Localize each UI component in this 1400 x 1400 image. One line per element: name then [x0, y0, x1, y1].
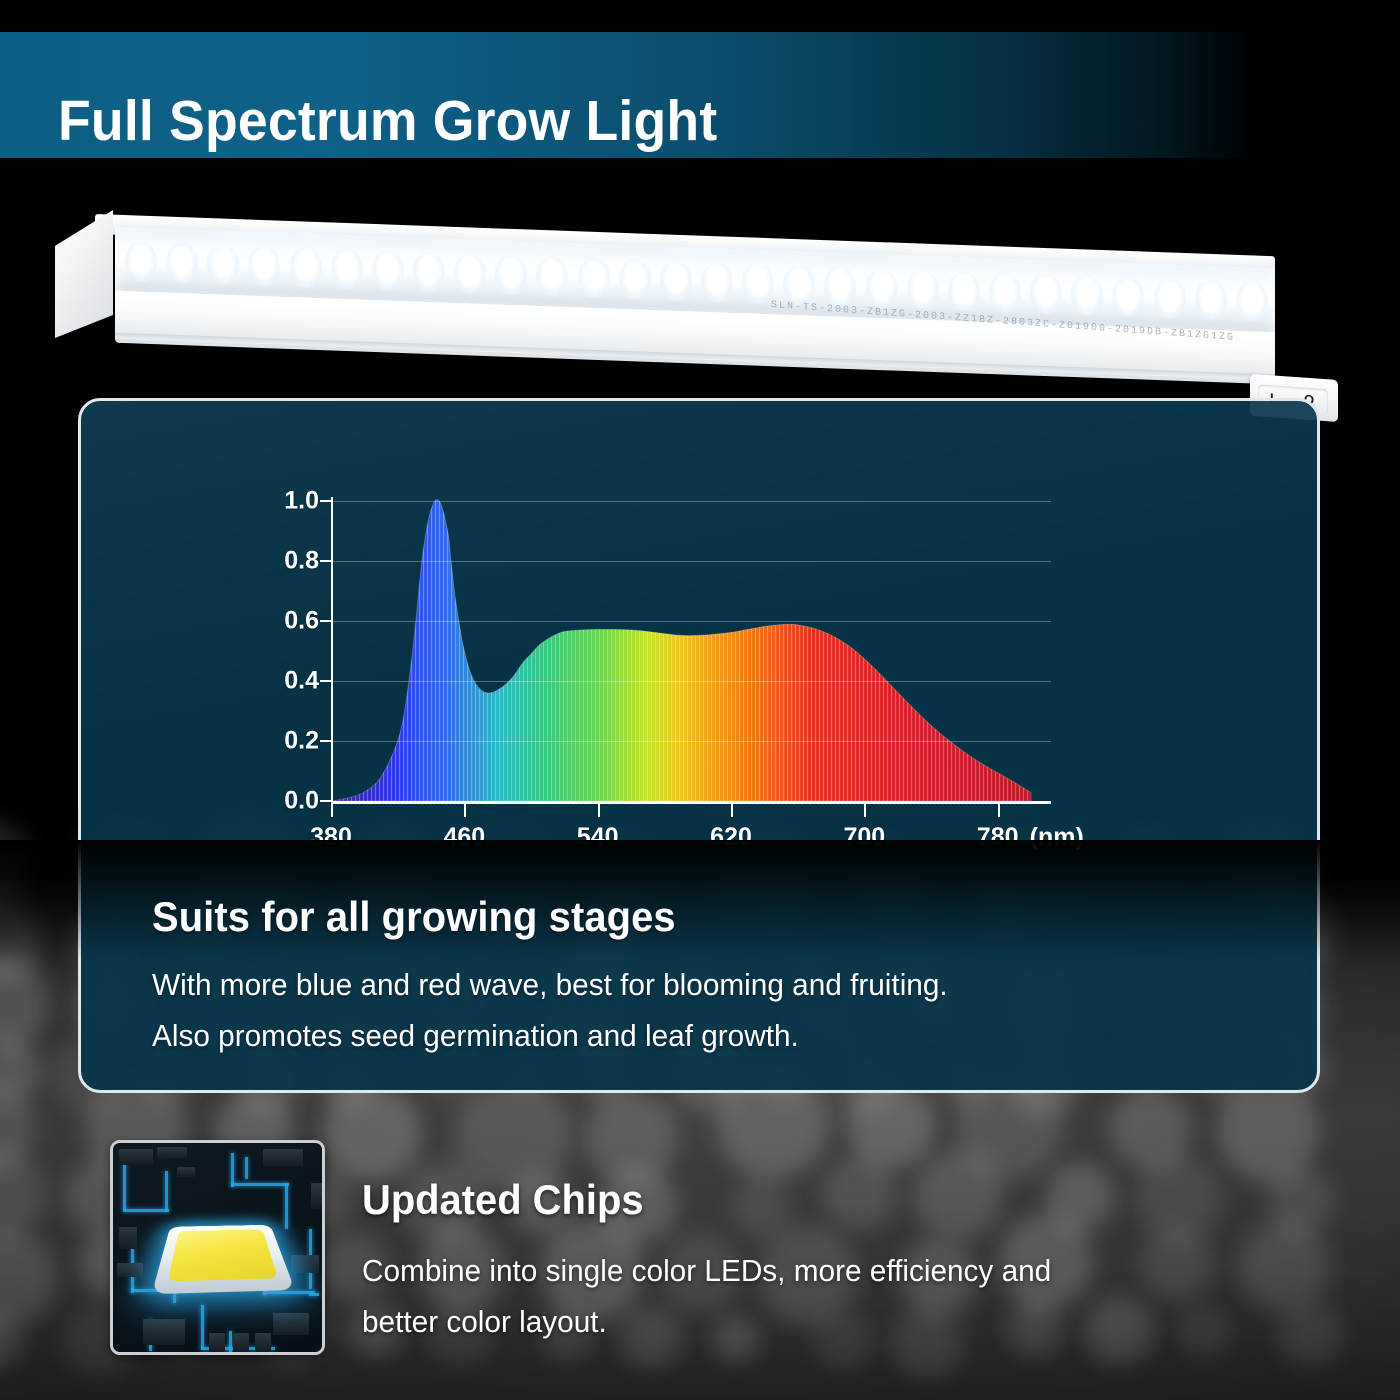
led-emitter — [248, 245, 280, 286]
led-emitter — [619, 259, 651, 300]
circuit-component — [157, 1147, 187, 1159]
header-banner: Full Spectrum Grow Light — [0, 32, 1258, 158]
circuit-trace — [263, 1291, 315, 1294]
chart-x-axis-line — [331, 801, 1051, 804]
product-infographic: Full Spectrum Grow Light SLN-TS-2003-ZB1… — [0, 0, 1400, 1400]
circuit-trace — [231, 1183, 289, 1186]
led-emitter — [824, 266, 856, 307]
chart-gridline — [331, 741, 1051, 742]
led-emitter — [290, 247, 322, 288]
led-emitter — [495, 254, 527, 295]
led-emitter — [454, 253, 486, 294]
circuit-component — [311, 1183, 325, 1209]
led-emitter — [742, 263, 774, 304]
chart-y-tick — [320, 620, 331, 622]
chart-x-tick — [464, 804, 466, 817]
led-emitter — [125, 241, 157, 282]
led-emitter — [907, 269, 939, 310]
page-title: Full Spectrum Grow Light — [58, 88, 717, 154]
chart-x-tick — [598, 804, 600, 817]
chart-gridline — [331, 681, 1051, 682]
chip-phosphor-surface — [168, 1229, 278, 1281]
led-emitter — [1195, 279, 1227, 320]
led-emitter — [989, 272, 1021, 313]
led-emitter — [207, 244, 239, 285]
led-emitter — [1154, 278, 1186, 319]
led-emitter — [660, 260, 692, 301]
chart-y-tick-label: 1.0 — [284, 487, 319, 516]
circuit-component — [117, 1263, 143, 1277]
led-emitter — [578, 257, 610, 298]
circuit-component — [273, 1313, 309, 1335]
chart-gridline — [331, 561, 1051, 562]
chart-y-tick-label: 0.0 — [284, 787, 319, 816]
chart-y-tick — [320, 560, 331, 562]
chart-y-tick-label: 0.2 — [284, 727, 319, 756]
circuit-component — [177, 1167, 195, 1177]
chart-y-tick — [320, 500, 331, 502]
chart-y-tick — [320, 800, 331, 802]
circuit-component — [119, 1227, 137, 1249]
chip-feature-heading: Updated Chips — [362, 1176, 644, 1224]
circuit-trace — [123, 1209, 169, 1212]
chart-x-tick — [731, 804, 733, 817]
chart-x-tick — [864, 804, 866, 817]
circuit-component — [143, 1319, 185, 1345]
led-emitter — [166, 243, 198, 284]
chart-y-tick-label: 0.6 — [284, 607, 319, 636]
led-emitter — [372, 250, 404, 291]
chart-y-tick-label: 0.4 — [284, 667, 319, 696]
circuit-trace — [123, 1159, 126, 1211]
panel-body-line-1: With more blue and red wave, best for bl… — [152, 967, 948, 1003]
led-emitter — [866, 268, 898, 309]
led-emitter — [948, 271, 980, 312]
led-emitter — [413, 251, 445, 292]
led-emitter-reflection — [130, 237, 152, 238]
panel-body-line-2: Also promotes seed germination and leaf … — [152, 1018, 799, 1054]
led-emitter — [1236, 281, 1268, 322]
panel-heading: Suits for all growing stages — [152, 893, 676, 941]
led-emitter — [1030, 273, 1062, 314]
circuit-trace — [229, 1331, 232, 1355]
chart-gridline — [331, 501, 1051, 502]
chart-y-tick — [320, 680, 331, 682]
circuit-component — [255, 1333, 271, 1353]
chip-feature-line-2: better color layout. — [362, 1304, 607, 1340]
circuit-component — [209, 1333, 225, 1353]
chart-x-tick — [998, 804, 1000, 817]
led-emitter — [783, 265, 815, 306]
led-chip-icon — [152, 1225, 295, 1294]
led-bar-housing: SLN-TS-2003-ZB1ZG-2003-ZZ1BZ-2803ZC-Z019… — [95, 214, 1275, 381]
led-emitter — [536, 256, 568, 297]
led-emitter — [331, 248, 363, 289]
circuit-component — [291, 1255, 319, 1273]
product-photo: SLN-TS-2003-ZB1ZG-2003-ZZ1BZ-2803ZC-Z019… — [55, 196, 1285, 372]
chart-y-tick-label: 0.8 — [284, 547, 319, 576]
circuit-trace — [245, 1157, 248, 1179]
circuit-trace — [231, 1153, 234, 1187]
led-emitter — [1112, 276, 1144, 317]
spectrum-chart: 0.00.20.40.60.81.0 380460540620700780(nm… — [331, 491, 1151, 836]
circuit-component — [119, 1149, 153, 1165]
chart-y-axis-line — [331, 497, 333, 811]
chart-gridline — [331, 621, 1051, 622]
chip-feature-line-1: Combine into single color LEDs, more eff… — [362, 1253, 1051, 1289]
chip-thumbnail — [110, 1140, 325, 1355]
led-emitter — [701, 262, 733, 303]
circuit-trace — [309, 1293, 319, 1296]
circuit-component — [233, 1333, 249, 1353]
spectrum-curve — [331, 491, 1151, 836]
circuit-trace — [201, 1305, 204, 1349]
led-emitter — [1071, 275, 1103, 316]
chart-x-tick — [331, 804, 333, 817]
circuit-trace — [285, 1183, 288, 1229]
circuit-component — [263, 1149, 303, 1167]
chart-y-tick — [320, 740, 331, 742]
circuit-trace — [165, 1171, 168, 1211]
